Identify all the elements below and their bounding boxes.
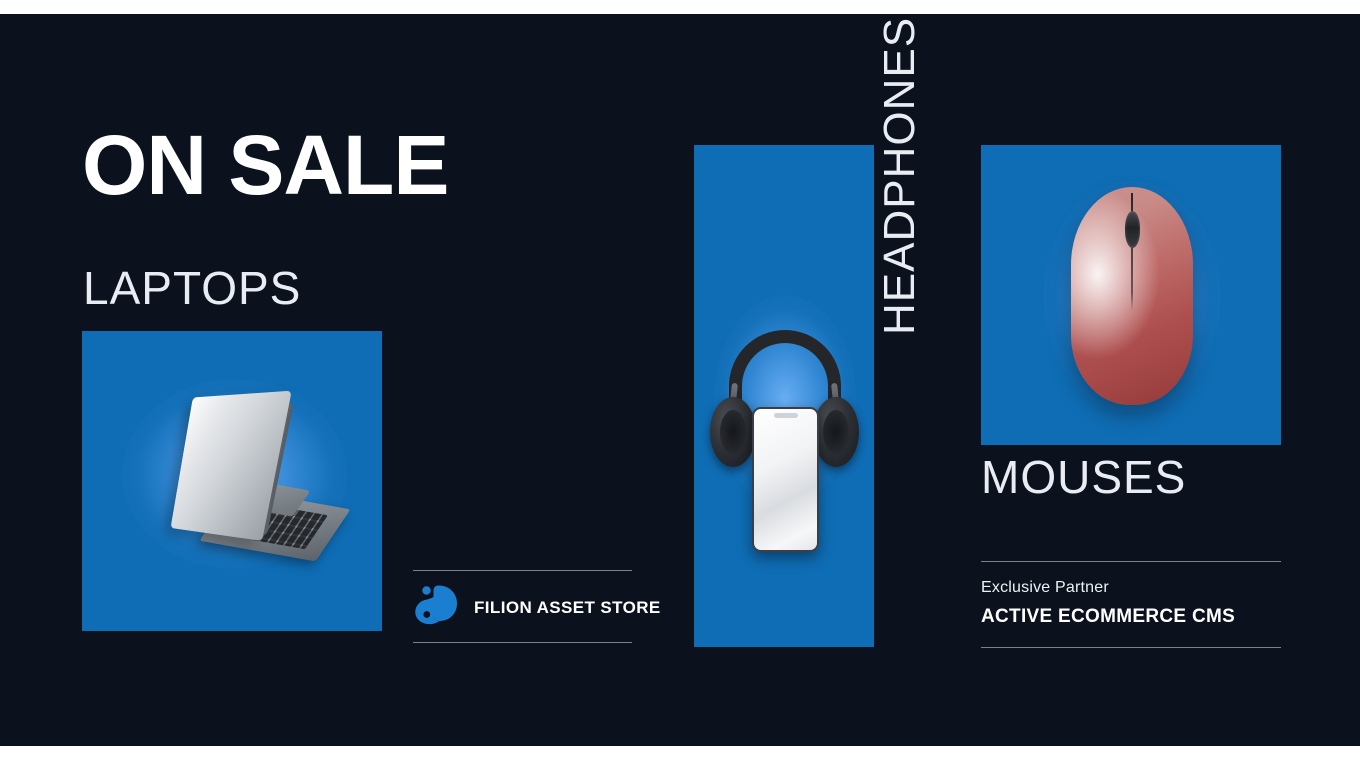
partner-label: Exclusive Partner xyxy=(981,579,1109,597)
brand-name: FILION ASSET STORE xyxy=(474,598,661,618)
mouse-scroll-wheel-icon xyxy=(1125,211,1140,248)
headphones-earcup-left-icon xyxy=(710,397,756,467)
product-panel-laptops[interactable] xyxy=(82,331,382,631)
divider-partner-top xyxy=(981,561,1281,562)
brand-lockup[interactable]: FILION ASSET STORE xyxy=(413,577,632,639)
headphones-earpad-icon xyxy=(720,410,746,454)
headphones-photo xyxy=(694,145,874,647)
frame-bar-bottom xyxy=(0,746,1360,780)
smartphone-icon xyxy=(752,407,819,552)
headphones-earcup-right-icon xyxy=(813,397,859,467)
product-panel-mouses[interactable] xyxy=(981,145,1281,445)
partner-name: ACTIVE ECOMMERCE CMS xyxy=(981,606,1235,628)
promo-slide: ON SALE LAPTOPS xyxy=(0,0,1360,780)
divider-partner-bottom xyxy=(981,647,1281,648)
category-label-laptops: LAPTOPS xyxy=(83,265,301,311)
divider-logo-bottom xyxy=(413,642,632,643)
filion-droplet-logo-icon xyxy=(413,583,459,633)
category-label-headphones: HEADPHONES xyxy=(878,17,922,335)
product-panel-headphones[interactable] xyxy=(694,145,874,647)
slide-canvas: ON SALE LAPTOPS xyxy=(0,14,1360,746)
mouse-photo xyxy=(981,145,1281,445)
divider-logo-top xyxy=(413,570,632,571)
headphones-earpad-icon xyxy=(823,410,849,454)
smartphone-speaker-icon xyxy=(774,413,798,418)
frame-bar-top xyxy=(0,0,1360,14)
category-label-mouses: MOUSES xyxy=(981,454,1186,500)
laptop-photo xyxy=(82,331,382,631)
page-title: ON SALE xyxy=(82,123,448,207)
